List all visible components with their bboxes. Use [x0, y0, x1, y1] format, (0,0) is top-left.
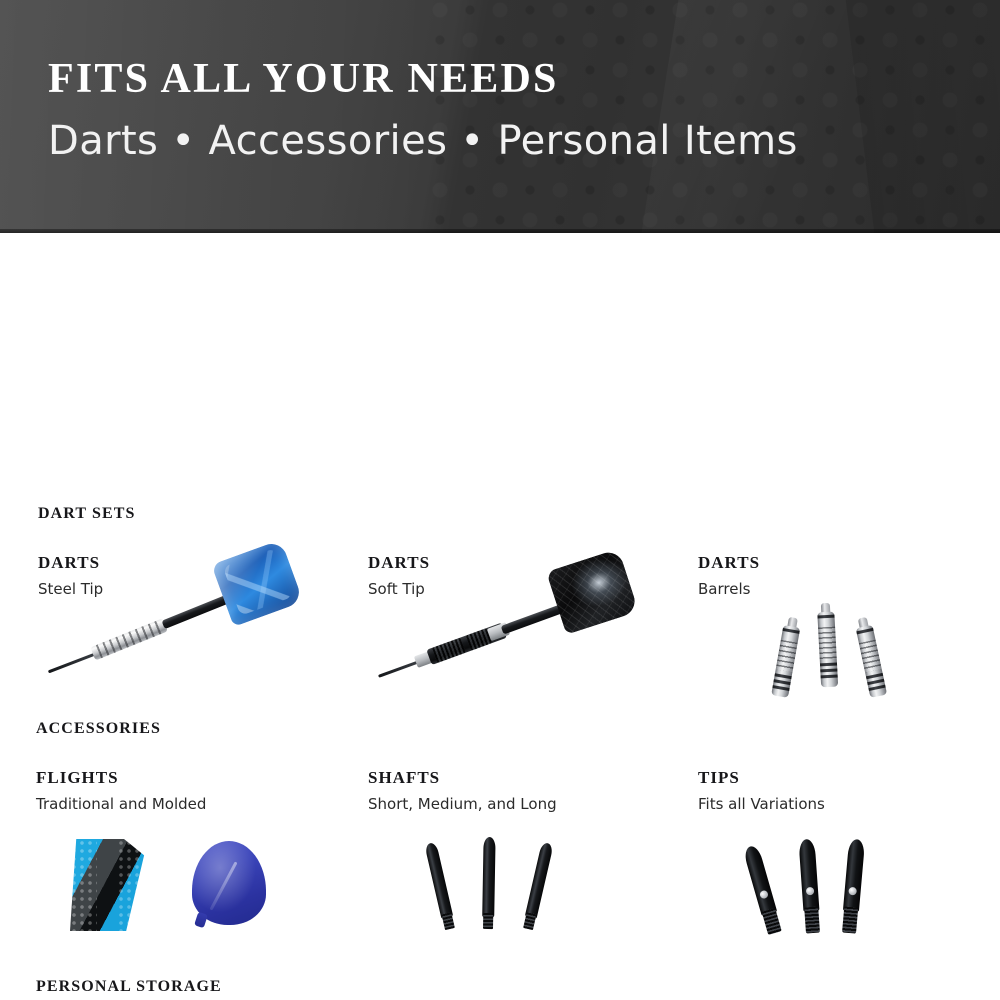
shaft-body	[525, 842, 554, 919]
barrel-grip	[776, 640, 798, 672]
tip-left	[740, 843, 786, 936]
item-title: DARTS	[698, 553, 998, 573]
item-description: Traditional and Molded	[36, 795, 336, 813]
dart-flights-image	[36, 831, 336, 941]
section-heading-dart-sets: DART SETS	[38, 505, 136, 523]
item-tips: TIPS Fits all Variations	[698, 768, 998, 813]
item-description: Fits all Variations	[698, 795, 998, 813]
shaft-thread	[523, 912, 536, 930]
item-title: SHAFTS	[368, 768, 668, 788]
item-title: DARTS	[38, 553, 338, 573]
page-header: FITS ALL YOUR NEEDS Darts • Accessories …	[0, 0, 1000, 233]
shaft-center	[480, 837, 498, 929]
shaft-body	[482, 837, 495, 917]
item-description: Short, Medium, and Long	[368, 795, 668, 813]
barrel-grip	[859, 640, 882, 673]
shaft-body	[424, 842, 453, 919]
section-heading-accessories: ACCESSORIES	[36, 720, 161, 738]
dart-barrels-image	[700, 595, 990, 705]
dart-tips-image	[698, 829, 988, 939]
dart-soft-grip-a	[432, 638, 466, 663]
shaft-left	[422, 841, 457, 930]
section-heading-personal-storage: PERSONAL STORAGE	[36, 978, 222, 996]
header-text-block: FITS ALL YOUR NEEDS Darts • Accessories …	[48, 58, 798, 162]
barrel-right	[854, 616, 887, 698]
soft-tip-dart-image	[370, 593, 670, 703]
shaft-thread	[483, 913, 493, 929]
tip-right	[838, 838, 868, 934]
tip-body	[798, 839, 819, 912]
barrel-center	[817, 603, 838, 688]
dart-soft-point	[378, 660, 420, 678]
item-flights: FLIGHTS Traditional and Molded	[36, 768, 336, 813]
dart-shafts-image	[368, 829, 668, 939]
tip-body	[843, 839, 865, 912]
infographic-page: FITS ALL YOUR NEEDS Darts • Accessories …	[0, 0, 1000, 1000]
tip-center	[795, 838, 824, 933]
barrel-grip	[818, 627, 837, 660]
item-darts-barrels: DARTS Barrels	[698, 553, 998, 598]
barrel-left	[771, 616, 802, 698]
item-title: TIPS	[698, 768, 998, 788]
item-title: FLIGHTS	[36, 768, 336, 788]
flight-molded-stem	[194, 912, 208, 928]
steel-tip-dart-image	[40, 593, 340, 703]
shaft-right	[520, 841, 555, 930]
tip-thread	[762, 908, 782, 935]
page-subtitle: Darts • Accessories • Personal Items	[48, 120, 798, 162]
item-shafts: SHAFTS Short, Medium, and Long	[368, 768, 668, 813]
tip-thread	[842, 906, 858, 933]
dart-needle-point	[48, 652, 98, 673]
tip-thread	[804, 907, 820, 934]
header-bottom-rule	[0, 229, 1000, 233]
tip-body	[743, 844, 778, 916]
page-title: FITS ALL YOUR NEEDS	[48, 58, 798, 100]
flight-traditional	[70, 839, 148, 931]
dart-barrel-knurling	[96, 620, 162, 658]
